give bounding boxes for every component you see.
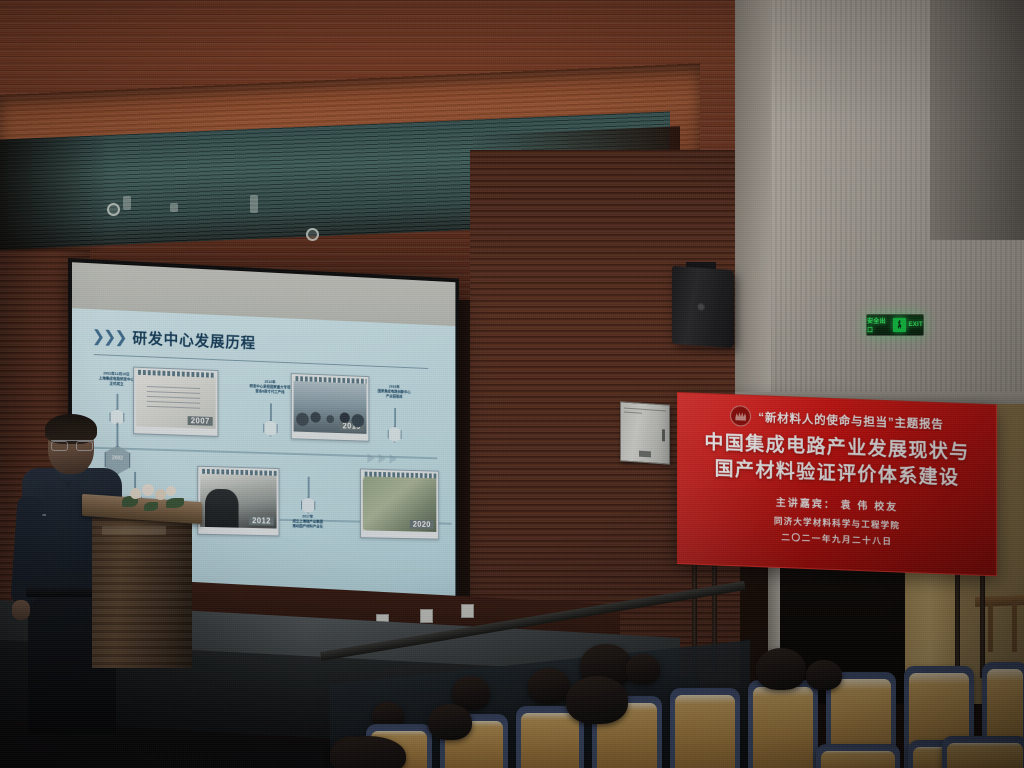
flower-arrangement [120, 482, 188, 514]
soffit-shadow-left [0, 135, 110, 255]
banner-subtitle: “新材料人的使命与担当”主题报告 [758, 409, 943, 432]
photo-year-tag: 2020 [410, 520, 434, 529]
slide-next-arrow-icon[interactable] [379, 454, 386, 464]
seat-cushion [521, 713, 579, 768]
audience-seating [330, 640, 1024, 768]
running-man-exit-icon [893, 318, 906, 332]
timeline-stem [270, 403, 271, 421]
seat-cushion [753, 687, 813, 768]
exit-sign-left-label: 安全出口 [867, 316, 891, 334]
auditorium-seat[interactable] [942, 736, 1024, 768]
slide-title: 研发中心发展历程 [132, 327, 256, 353]
auditorium-seat[interactable] [748, 680, 818, 768]
plaster-wall-shadow [930, 0, 1024, 240]
timeline-node [388, 426, 402, 443]
wall-outlet[interactable] [461, 604, 474, 618]
audience-head-foreground [806, 660, 842, 690]
audience-head-foreground [566, 676, 628, 724]
photo-image-meeting: 2012 [200, 474, 276, 529]
audience-head [528, 668, 570, 704]
ceiling-spotlight [306, 228, 319, 241]
timeline-photo-2020: 2020 [360, 468, 439, 539]
wall-outlet[interactable] [420, 609, 433, 623]
exit-sign-right-label: EXIT [908, 322, 923, 328]
audience-head-foreground [428, 704, 472, 740]
podium-lectern [88, 498, 196, 668]
plaster-wall-column [735, 0, 771, 420]
ceiling-light-clip [250, 195, 258, 213]
seat-cushion [675, 695, 735, 768]
flower-bloom [166, 486, 176, 496]
panel-label [639, 451, 651, 458]
banner-content: “新材料人的使命与担当”主题报告 中国集成电路产业发展现状与 国产材料验证评价体… [678, 393, 996, 552]
auditorium-seat[interactable] [816, 744, 900, 768]
timeline-stem [394, 408, 395, 427]
presenter-hand [12, 600, 30, 620]
podium-body [92, 518, 192, 668]
podium-nameplate [102, 526, 166, 535]
auditorium-seat[interactable] [670, 688, 740, 768]
timeline-stem [116, 394, 117, 410]
event-banner: “新材料人的使命与担当”主题报告 中国集成电路产业发展现状与 国产材料验证评价体… [677, 392, 997, 576]
audience-head-foreground [330, 736, 406, 768]
slide-header: ❯❯❯ 研发中心发展历程 [92, 325, 256, 353]
seat-cushion [947, 743, 1023, 768]
speaker-cone [696, 302, 706, 313]
slide-next-arrow-icon[interactable] [390, 454, 397, 464]
timeline-photo-2012: 2012 [197, 466, 279, 537]
slide-next-arrow-icon[interactable] [367, 453, 374, 463]
photo-image-aerial: 2020 [363, 476, 437, 532]
ceiling-light-clip [170, 203, 178, 212]
wall-loudspeaker [672, 266, 734, 348]
timeline-node [263, 420, 277, 437]
flower-leaf [144, 502, 158, 511]
panel-seam [624, 408, 666, 412]
flower-bloom [155, 489, 166, 500]
panel-seam [624, 412, 642, 414]
flower-bloom [130, 488, 141, 499]
eyeglasses-icon [51, 440, 93, 449]
chevron-right-icon: ❯❯❯ [92, 326, 126, 347]
photo-year-tag: 2019 [340, 421, 364, 431]
seat-cushion [821, 751, 895, 768]
timeline-stem [308, 477, 309, 498]
lecture-hall-photo: 安全出口 EXIT ❯❯❯ 研发中心发展历程 2002年12月15日上 [0, 0, 1024, 768]
audience-head-foreground [756, 648, 806, 690]
wall-control-panel[interactable] [620, 401, 670, 464]
timeline-photo-2007: 2007 [133, 367, 218, 437]
ceiling-spotlight [107, 203, 120, 216]
flower-bloom [142, 484, 154, 496]
timeline-caption: 2017年成立上海硅产业集团推动国产材料产业化 [269, 514, 346, 531]
panel-latch[interactable] [662, 429, 665, 441]
ceiling-light-clip [123, 196, 131, 210]
photo-image-document: 2007 [136, 375, 216, 429]
flower-leaf [166, 498, 184, 508]
timeline-caption: 2019年国家集成电路创新中心产业园落成 [356, 383, 431, 401]
tongji-university-emblem-icon [730, 405, 751, 427]
timeline-node [301, 497, 315, 514]
audience-head [626, 654, 660, 684]
emergency-exit-sign: 安全出口 EXIT [866, 314, 924, 336]
photo-year-tag: 2007 [188, 416, 213, 426]
